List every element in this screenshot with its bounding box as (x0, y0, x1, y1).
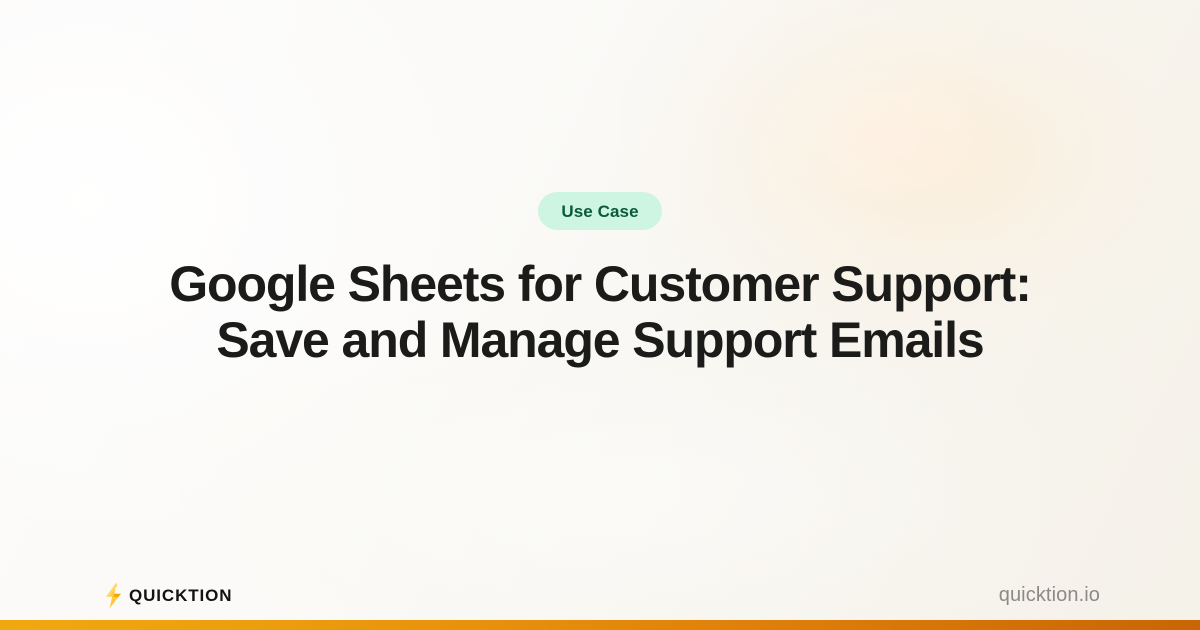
site-url: quicktion.io (999, 585, 1100, 605)
og-card: Use Case Google Sheets for Customer Supp… (0, 0, 1200, 630)
brand-wordmark: QUICKTION (129, 587, 232, 604)
category-badge: Use Case (538, 192, 661, 230)
accent-bar (0, 620, 1200, 630)
hero-section: Use Case Google Sheets for Customer Supp… (0, 0, 1200, 560)
lightning-bolt-icon (104, 582, 123, 609)
brand-logo: QUICKTION (104, 582, 232, 609)
page-title: Google Sheets for Customer Support: Save… (120, 256, 1080, 368)
